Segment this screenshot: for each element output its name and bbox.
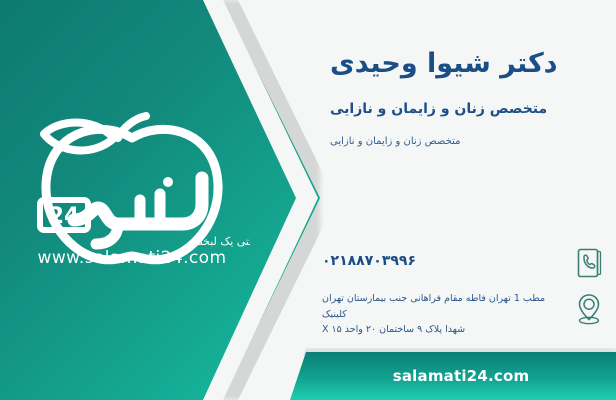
logo-badge-24: 24 <box>49 204 80 229</box>
doctor-name: دکتر شیوا وحیدی <box>330 48 598 79</box>
address-text-wrap: مطب 1 تهران فاطه مقام فراهانی جنب بیمارس… <box>318 291 568 338</box>
business-card: 24 به راحتی یک لبخند www.salamati24.com … <box>0 0 616 400</box>
logo-url: www.salamati24.com <box>14 248 250 268</box>
footer-site: salamati24.com <box>306 352 616 400</box>
doctor-specialty-primary: متخصص زنان و زایمان و نازایی <box>330 101 598 117</box>
address-line-2: شهدا پلاک ۹ ساختمان ۲۰ واحد ۱۵ X <box>322 322 568 338</box>
phone-book-icon <box>568 246 610 279</box>
logo-tagline: به راحتی یک لبخند <box>194 235 250 248</box>
contact-row-phone: ۰۲۱۸۸۷۰۳۹۹۶ <box>318 246 610 279</box>
contact-block: ۰۲۱۸۸۷۰۳۹۹۶ مطب 1 تهران فاطه مقام فراهان… <box>318 246 610 350</box>
salamati24-logo: 24 به راحتی یک لبخند www.salamati24.com <box>14 108 250 276</box>
contact-row-address: مطب 1 تهران فاطه مقام فراهانی جنب بیمارس… <box>318 291 610 338</box>
card-details: دکتر شیوا وحیدی متخصص زنان و زایمان و نا… <box>312 0 616 400</box>
phone-text-wrap: ۰۲۱۸۸۷۰۳۹۹۶ <box>318 246 568 269</box>
map-pin-icon <box>568 291 610 326</box>
doctor-specialty-secondary: متخصص زنان و زایمان و نازایی <box>330 136 598 147</box>
address-line-1: مطب 1 تهران فاطه مقام فراهانی جنب بیمارس… <box>322 291 568 322</box>
phone-number: ۰۲۱۸۸۷۰۳۹۹۶ <box>322 246 568 269</box>
